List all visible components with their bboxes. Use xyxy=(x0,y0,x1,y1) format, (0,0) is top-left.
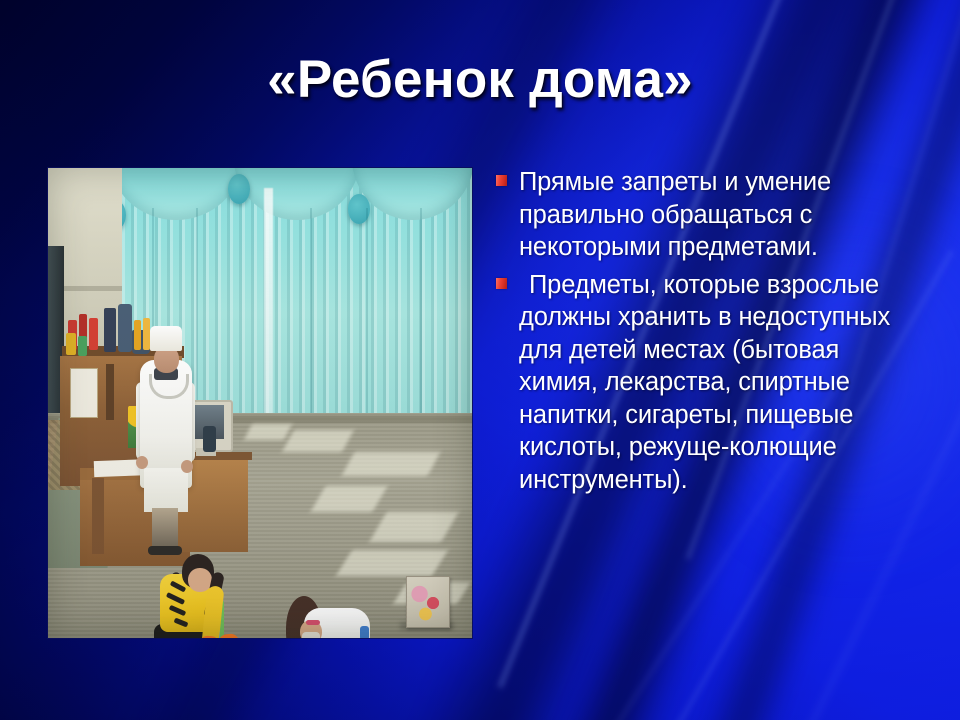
slide-photo xyxy=(48,168,472,638)
slide-body-text: Прямые запреты и умение правильно обраща… xyxy=(490,166,910,498)
bullet-text-2: Предметы, которые взрослые должны хранит… xyxy=(519,269,910,497)
square-bullet-icon xyxy=(496,175,507,186)
square-bullet-icon xyxy=(496,278,507,289)
bullet-text-1: Прямые запреты и умение правильно обраща… xyxy=(519,166,910,264)
slide-title: «Ребенок дома» xyxy=(0,52,960,108)
photo-vignette xyxy=(48,168,472,638)
presentation-slide: «Ребенок дома» xyxy=(0,0,960,720)
bullet-item-1: Прямые запреты и умение правильно обраща… xyxy=(490,166,910,264)
bullet-item-2: Предметы, которые взрослые должны хранит… xyxy=(490,269,910,497)
